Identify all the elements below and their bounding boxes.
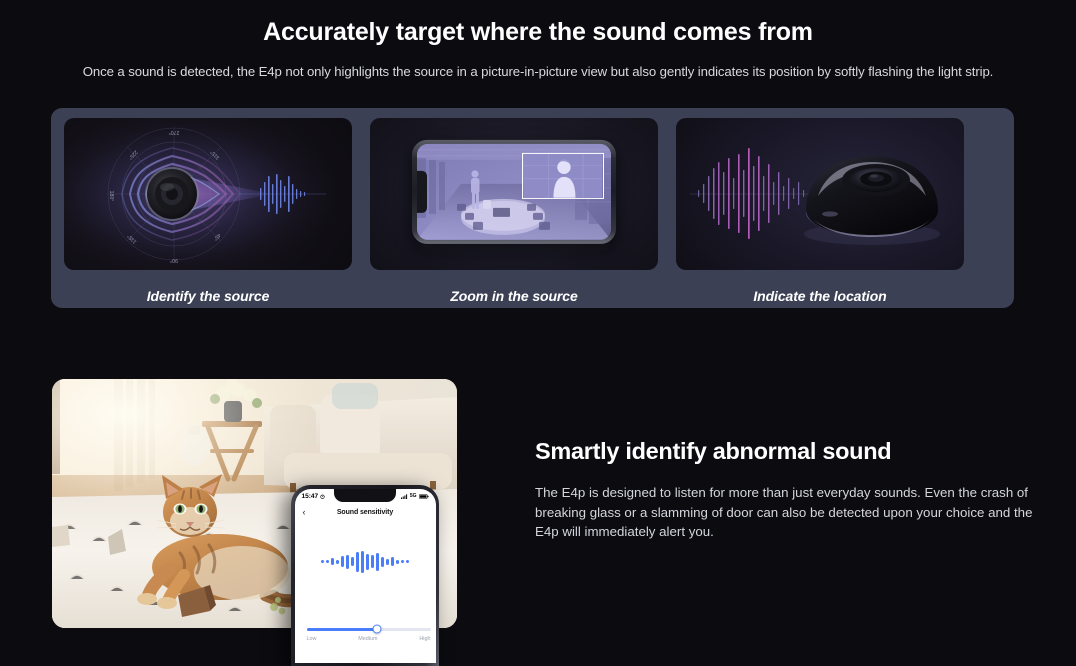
page-title: Accurately target where the sound comes … — [0, 18, 1076, 47]
status-bar-left: 15:47 — [302, 493, 326, 500]
signal-icon — [401, 494, 408, 499]
feature-triptych-card: 270° 315° 180° 225° 135° 90° 45° — [51, 108, 1014, 308]
waveform-bar — [361, 551, 364, 573]
picture-in-picture-box — [522, 153, 604, 199]
svg-text:180°: 180° — [108, 191, 114, 202]
triptych-item-identify: 270° 315° 180° 225° 135° 90° 45° — [60, 118, 356, 304]
battery-icon — [419, 494, 429, 499]
waveform-bar — [356, 552, 359, 572]
waveform-bar — [321, 560, 324, 563]
triptych-item-indicate: Indicate the location — [672, 118, 968, 304]
sound-waveform — [295, 545, 436, 579]
waveform-bar — [401, 560, 404, 563]
slider-labels: Low Medium High — [307, 636, 431, 642]
page-root: Accurately target where the sound comes … — [0, 0, 1076, 666]
polar-sound-diagram-icon: 270° 315° 180° 225° 135° 90° 45° — [64, 118, 352, 270]
status-bar-right: 5G — [401, 493, 429, 499]
network-label: 5G — [410, 493, 417, 499]
waveform-bar — [381, 557, 384, 567]
waveform-bar — [366, 554, 369, 570]
waveform-bar — [386, 559, 389, 565]
phone-screen — [417, 144, 611, 240]
waveform-bar — [326, 560, 329, 563]
svg-text:90°: 90° — [170, 257, 178, 263]
polar-diagram-panel: 270° 315° 180° 225° 135° 90° 45° — [64, 118, 352, 270]
dome-camera-panel — [676, 118, 964, 270]
slider-label-high: High — [419, 636, 430, 642]
feature-title: Smartly identify abnormal sound — [535, 438, 1050, 465]
phone-landscape-mockup — [412, 140, 616, 244]
waveform-bar — [371, 555, 374, 568]
waveform-bar — [331, 558, 334, 565]
phone-notch — [417, 171, 427, 213]
waveform-bar — [336, 560, 339, 564]
alarm-icon — [320, 494, 325, 499]
status-time: 15:47 — [302, 493, 319, 500]
slider-track[interactable] — [307, 628, 431, 631]
slider-knob[interactable] — [373, 625, 382, 634]
app-navbar: ‹ Sound sensitivity — [295, 504, 436, 522]
slider-fill — [307, 628, 378, 631]
screen-title: Sound sensitivity — [295, 509, 436, 516]
feature-text-block: Smartly identify abnormal sound The E4p … — [535, 438, 1050, 542]
triptych-caption: Zoom in the source — [450, 288, 577, 304]
waveform-bar — [396, 560, 399, 564]
svg-text:270°: 270° — [169, 129, 180, 135]
triptych-caption: Identify the source — [147, 288, 270, 304]
slider-label-medium: Medium — [358, 636, 377, 642]
waveform-bar — [391, 557, 394, 566]
app-screen: 15:47 5G — [295, 489, 436, 663]
slider-label-low: Low — [307, 636, 317, 642]
phone-notch — [334, 489, 396, 502]
waveform-bar — [341, 556, 344, 567]
sensitivity-slider[interactable]: Low Medium High — [307, 628, 431, 642]
waveform-bar — [346, 555, 349, 569]
phone-pip-panel — [370, 118, 658, 270]
phone-portrait-mockup: 15:47 5G — [291, 485, 439, 666]
triptych-item-zoom: Zoom in the source — [366, 118, 662, 304]
pip-zoom-content-icon — [523, 154, 603, 198]
waveform-bar — [376, 553, 379, 571]
page-subtitle: Once a sound is detected, the E4p not on… — [38, 64, 1038, 79]
waveform-bar — [351, 557, 354, 566]
feature-body: The E4p is designed to listen for more t… — [535, 483, 1050, 542]
triptych-caption: Indicate the location — [753, 288, 886, 304]
waveform-bar — [406, 560, 409, 563]
dome-camera-icon — [676, 118, 964, 270]
